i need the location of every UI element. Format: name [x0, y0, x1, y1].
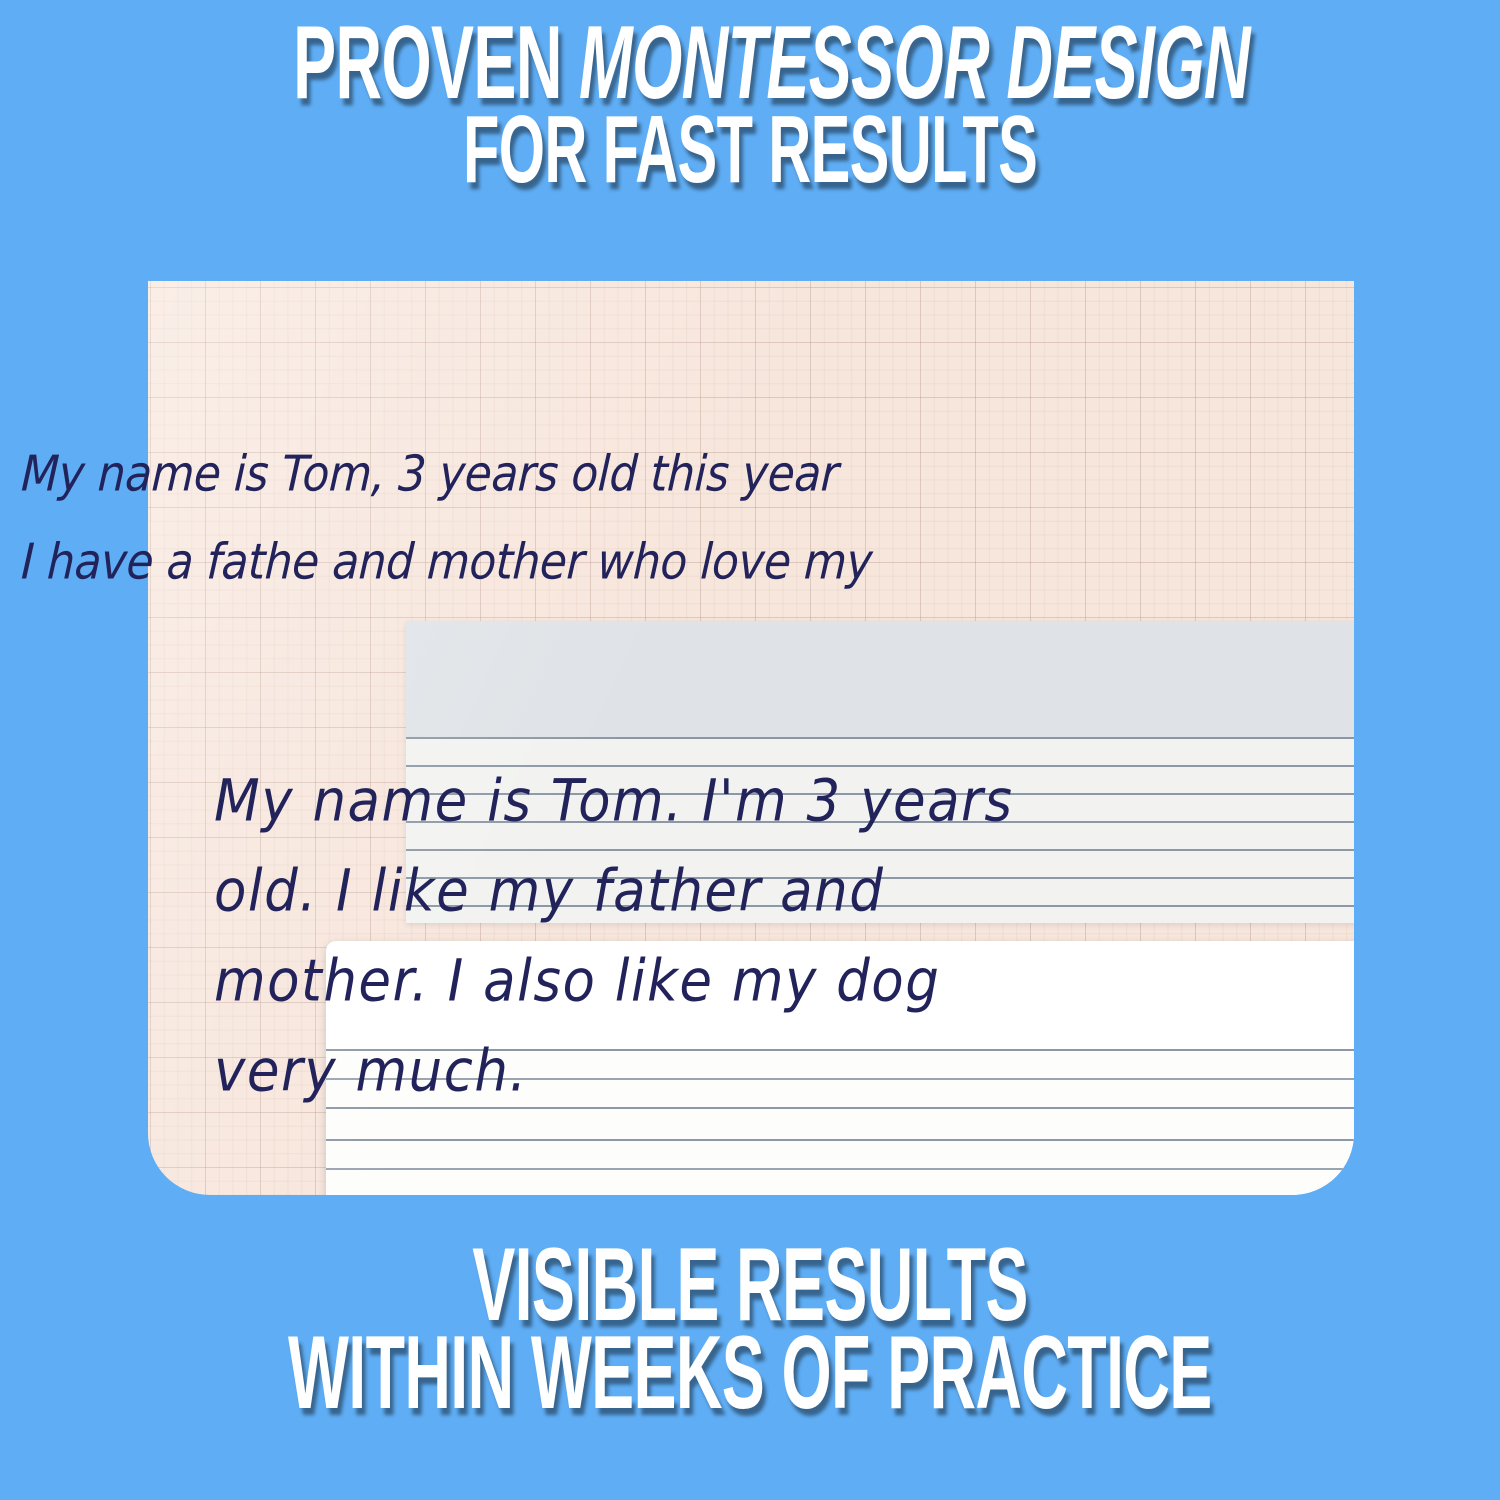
poster-canvas: PROVEN MONTESSOR DESIGN FOR FAST RESULTS… [0, 0, 1500, 1500]
headline-bottom: VISIBLE RESULTS WITHIN WEEKS OF PRACTICE [0, 1238, 1500, 1421]
before-text-line-2: I have a fathe and mother who love my [20, 534, 873, 591]
headline-top-line-2: FOR FAST RESULTS [0, 106, 1500, 194]
after-text-line-2: old. I like my father and [214, 858, 884, 925]
card-before-header-band [406, 621, 1354, 737]
after-text-line-4: very much. [214, 1038, 528, 1105]
after-text-line-1: My name is Tom. I'm 3 years [214, 768, 1013, 835]
rule-group-2 [326, 1139, 1354, 1195]
headline-bottom-line-2: WITHIN WEEKS OF PRACTICE [0, 1326, 1500, 1422]
before-text-line-1: My name is Tom, 3 years old this year [20, 446, 840, 503]
after-text-line-3: mother. I also like my dog [214, 948, 940, 1015]
headline-top: PROVEN MONTESSOR DESIGN FOR FAST RESULTS [0, 16, 1500, 194]
